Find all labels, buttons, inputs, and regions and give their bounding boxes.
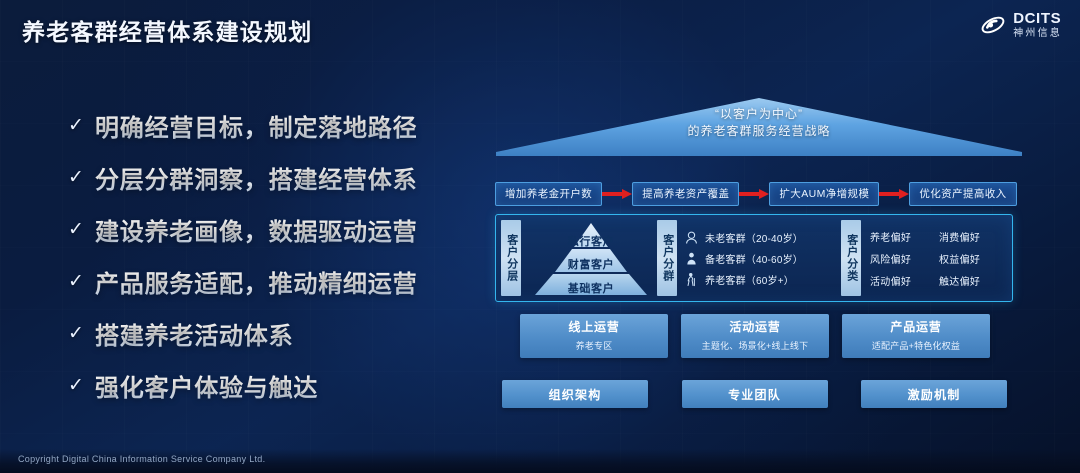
operation-card-online[interactable]: 线上运营 养老专区 [520,314,668,358]
logo-text-cn: 神州信息 [1013,29,1062,39]
operation-title: 产品运营 [890,320,941,334]
foundation-title: 专业团队 [728,386,781,403]
class-grid: 养老偏好 消费偏好 风险偏好 权益偏好 活动偏好 触达偏好 [866,219,1008,297]
arrow-right-icon [879,189,909,199]
bullet-item: ✓ 强化客户体验与触达 [68,368,468,403]
roof-line-1: “以客户为中心” [494,106,1024,123]
group-text: 未老客群（20-40岁） [705,230,803,245]
bullet-item: ✓ 分层分群洞察，搭建经营体系 [68,160,468,195]
check-icon: ✓ [68,376,86,395]
strategy-diagram: “以客户为中心” 的养老客群服务经营战略 增加养老金开户数 提高养老资产覆盖 扩… [490,92,1030,432]
page-title: 养老客群经营体系建设规划 [22,13,312,47]
group-vertical-label: 客户分群 [657,220,677,296]
slide-footer: Copyright Digital China Information Serv… [0,449,1080,473]
tier-vertical-label: 客户分层 [501,220,521,296]
tier-label-text: 客户分层 [504,234,517,282]
operation-card-product[interactable]: 产品运营 适配产品+特色化权益 [842,314,990,358]
foundation-title: 组织架构 [549,386,602,403]
bullet-text: 分层分群洞察，搭建经营体系 [95,160,417,195]
group-text: 养老客群（60岁+） [705,272,794,287]
brand-logo: DCITS 神州信息 [980,11,1062,39]
bullet-item: ✓ 产品服务适配，推动精细运营 [68,264,468,299]
goal-box-2[interactable]: 提高养老资产覆盖 [632,182,739,206]
check-icon: ✓ [68,324,86,343]
class-row: 养老偏好 消费偏好 [870,229,1008,244]
operation-subtitle: 适配产品+特色化权益 [872,339,960,352]
operation-subtitle: 养老专区 [576,339,613,352]
class-cell: 风险偏好 [870,251,939,266]
check-icon: ✓ [68,168,86,187]
goal-box-1[interactable]: 增加养老金开户数 [495,182,602,206]
arrow-right-icon [602,189,632,199]
adult-person-icon [684,251,699,266]
roof-text: “以客户为中心” 的养老客群服务经营战略 [494,106,1024,141]
tier-pyramid: 私行客户 财富客户 基础客户 [526,219,656,297]
class-cell: 触达偏好 [939,273,1008,288]
pyramid-tier-3: 基础客户 [568,280,614,296]
foundation-card-org[interactable]: 组织架构 [502,380,648,408]
arrow-right-icon [739,189,769,199]
class-vertical-label: 客户分类 [841,220,861,296]
check-icon: ✓ [68,116,86,135]
group-row: 未老客群（20-40岁） [684,230,840,245]
group-list: 未老客群（20-40岁） 备老客群（40-60岁） 养老客群（60岁+） [682,219,840,297]
goal-chain: 增加养老金开户数 提高养老资产覆盖 扩大AUM净增规模 优化资产提高收入 [495,182,1015,206]
copyright-text: Copyright Digital China Information Serv… [18,454,265,464]
group-row: 备老客群（40-60岁） [684,251,840,266]
check-icon: ✓ [68,272,86,291]
class-cell: 权益偏好 [939,251,1008,266]
logo-text-en: DCITS [1013,11,1062,26]
bullet-text: 明确经营目标，制定落地路径 [95,108,417,143]
pyramid-tier-1: 私行客户 [568,233,614,249]
roof-line-2: 的养老客群服务经营战略 [494,123,1024,140]
foundation-cards: 组织架构 专业团队 激励机制 [502,380,1007,408]
swirl-logo-icon [980,12,1006,38]
bullet-text: 产品服务适配，推动精细运营 [95,264,417,299]
class-cell: 养老偏好 [870,229,939,244]
check-icon: ✓ [68,220,86,239]
foundation-card-incentive[interactable]: 激励机制 [861,380,1007,408]
group-row: 养老客群（60岁+） [684,272,840,287]
group-text: 备老客群（40-60岁） [705,251,803,266]
class-label-text: 客户分类 [844,234,857,282]
class-row: 活动偏好 触达偏好 [870,273,1008,288]
class-cell: 活动偏好 [870,273,939,288]
operation-title: 活动运营 [729,320,780,334]
elderly-cane-icon [684,272,699,287]
class-cell: 消费偏好 [939,229,1008,244]
goal-box-4[interactable]: 优化资产提高收入 [909,182,1016,206]
strategy-roof: “以客户为中心” 的养老客群服务经营战略 [494,92,1024,158]
bullet-item: ✓ 明确经营目标，制定落地路径 [68,108,468,143]
bullet-text: 建设养老画像，数据驱动运营 [95,212,417,247]
bullet-list: ✓ 明确经营目标，制定落地路径 ✓ 分层分群洞察，搭建经营体系 ✓ 建设养老画像… [68,108,468,420]
logo-wordmark: DCITS 神州信息 [1013,11,1062,39]
foundation-card-team[interactable]: 专业团队 [682,380,828,408]
operation-title: 线上运营 [568,320,619,334]
operation-card-activity[interactable]: 活动运营 主题化、场景化+线上线下 [681,314,829,358]
bullet-item: ✓ 建设养老画像，数据驱动运营 [68,212,468,247]
young-person-icon [684,230,699,245]
operation-subtitle: 主题化、场景化+线上线下 [702,339,809,352]
pyramid-tier-2: 财富客户 [568,256,614,272]
bullet-item: ✓ 搭建养老活动体系 [68,316,468,351]
bullet-text: 强化客户体验与触达 [95,368,318,403]
group-label-text: 客户分群 [660,234,673,282]
class-row: 风险偏好 权益偏好 [870,251,1008,266]
goal-box-3[interactable]: 扩大AUM净增规模 [769,182,879,206]
slide-root: 养老客群经营体系建设规划 DCITS 神州信息 ✓ 明确经营目标，制定落地路径 … [0,0,1080,473]
foundation-title: 激励机制 [908,386,961,403]
bullet-text: 搭建养老活动体系 [95,316,293,351]
operation-cards: 线上运营 养老专区 活动运营 主题化、场景化+线上线下 产品运营 适配产品+特色… [520,314,990,358]
slide-header: 养老客群经营体系建设规划 DCITS 神州信息 [0,0,1080,58]
customer-panel: 客户分层 [495,214,1013,302]
